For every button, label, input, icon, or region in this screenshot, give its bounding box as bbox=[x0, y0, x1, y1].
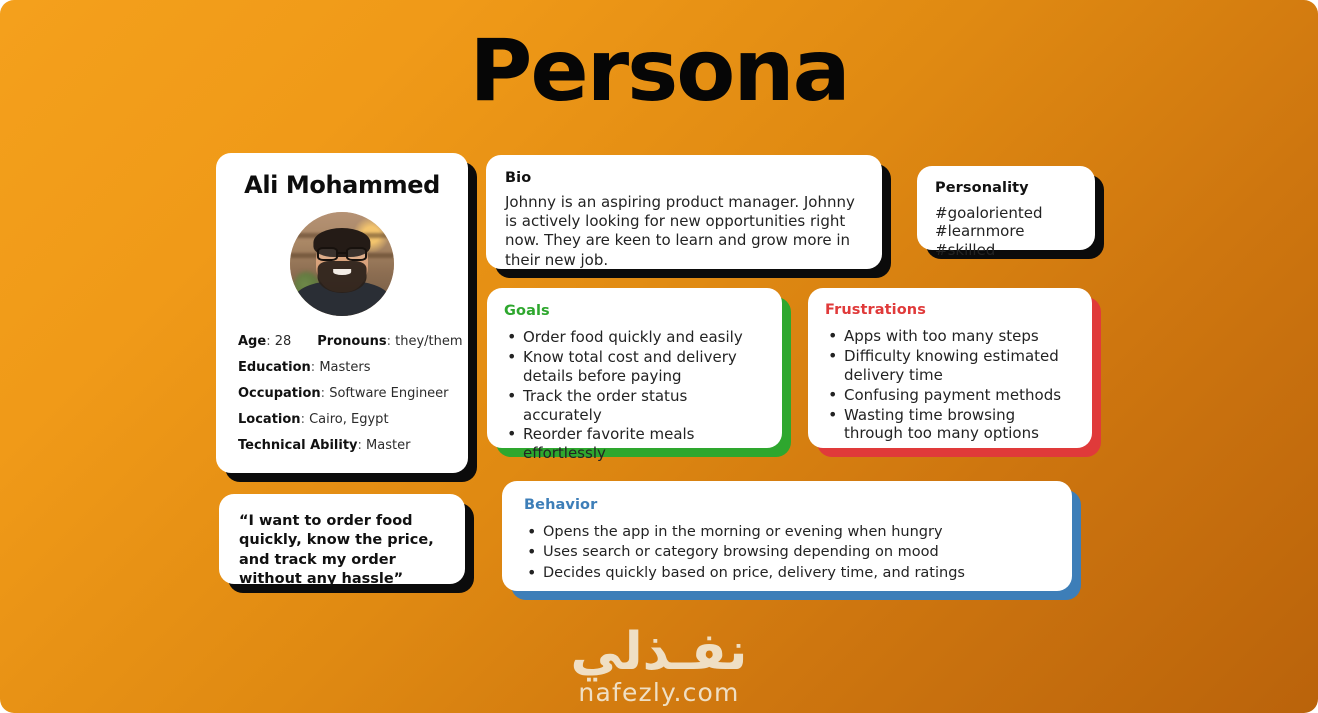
page-title: Persona bbox=[0, 26, 1318, 116]
field-separator: : bbox=[358, 438, 362, 453]
field-label: Pronouns bbox=[317, 334, 386, 349]
field-label: Age bbox=[238, 334, 266, 349]
avatar-glasses-right bbox=[346, 247, 367, 261]
profile-field-pronouns: Pronouns: they/them bbox=[317, 334, 462, 349]
field-label: Education bbox=[238, 360, 311, 375]
list-item: Opens the app in the morning or evening … bbox=[524, 523, 1050, 541]
avatar-glasses-bridge bbox=[338, 252, 345, 254]
goals-card: Goals Order food quickly and easily Know… bbox=[487, 288, 782, 448]
list-item: Wasting time browsing through too many o… bbox=[825, 406, 1075, 444]
watermark: نفـذلي nafezly.com bbox=[0, 626, 1318, 705]
avatar bbox=[290, 212, 394, 316]
profile-field-education: Education: Masters bbox=[238, 360, 446, 375]
bio-text: Johnny is an aspiring product manager. J… bbox=[505, 193, 863, 270]
profile-field-occupation: Occupation: Software Engineer bbox=[238, 386, 446, 401]
frustrations-heading: Frustrations bbox=[825, 302, 1075, 318]
avatar-beard bbox=[318, 261, 367, 293]
personality-card: Personality #goaloriented #learnmore #sk… bbox=[917, 166, 1095, 250]
field-value: Cairo, Egypt bbox=[309, 412, 388, 427]
behavior-list: Opens the app in the morning or evening … bbox=[524, 523, 1050, 582]
goals-heading: Goals bbox=[504, 303, 765, 319]
watermark-arabic: نفـذلي bbox=[0, 626, 1318, 678]
profile-field-location: Location: Cairo, Egypt bbox=[238, 412, 446, 427]
field-label: Location bbox=[238, 412, 301, 427]
bio-heading: Bio bbox=[505, 170, 863, 186]
profile-field-age: Age: 28 bbox=[238, 334, 291, 349]
field-label: Technical Ability bbox=[238, 438, 358, 453]
field-value: Master bbox=[366, 438, 410, 453]
watermark-latin: nafezly.com bbox=[0, 680, 1318, 705]
list-item: Difficulty knowing estimated delivery ti… bbox=[825, 347, 1075, 385]
field-separator: : bbox=[387, 334, 391, 349]
personality-tags: #goaloriented #learnmore #skilled bbox=[935, 204, 1077, 259]
field-value: 28 bbox=[275, 334, 292, 349]
field-value: they/them bbox=[395, 334, 462, 349]
list-item: Order food quickly and easily bbox=[504, 328, 765, 347]
list-item: Track the order status accurately bbox=[504, 387, 765, 425]
profile-fields: Age: 28 Pronouns: they/them Education: M… bbox=[238, 334, 446, 453]
list-item: Decides quickly based on price, delivery… bbox=[524, 564, 1050, 582]
avatar-glasses-left bbox=[317, 247, 338, 261]
list-item: Apps with too many steps bbox=[825, 327, 1075, 346]
field-label: Occupation bbox=[238, 386, 321, 401]
persona-poster: Persona Ali Mohammed Age: 28 bbox=[0, 0, 1318, 713]
profile-field-technical-ability: Technical Ability: Master bbox=[238, 438, 446, 453]
list-item: Confusing payment methods bbox=[825, 386, 1075, 405]
profile-row-age: Age: 28 Pronouns: they/them bbox=[238, 334, 446, 360]
list-item: Know total cost and delivery details bef… bbox=[504, 348, 765, 386]
field-separator: : bbox=[311, 360, 315, 375]
profile-name: Ali Mohammed bbox=[238, 171, 446, 199]
goals-list: Order food quickly and easily Know total… bbox=[504, 328, 765, 463]
bio-card: Bio Johnny is an aspiring product manage… bbox=[486, 155, 882, 269]
field-separator: : bbox=[321, 386, 325, 401]
behavior-heading: Behavior bbox=[524, 497, 1050, 513]
frustrations-list: Apps with too many steps Difficulty know… bbox=[825, 327, 1075, 443]
personality-heading: Personality bbox=[935, 180, 1077, 196]
list-item: Reorder favorite meals effortlessly bbox=[504, 425, 765, 463]
frustrations-card: Frustrations Apps with too many steps Di… bbox=[808, 288, 1092, 448]
field-separator: : bbox=[266, 334, 270, 349]
list-item: Uses search or category browsing dependi… bbox=[524, 543, 1050, 561]
field-value: Masters bbox=[319, 360, 370, 375]
behavior-card: Behavior Opens the app in the morning or… bbox=[502, 481, 1072, 591]
quote-card: “I want to order food quickly, know the … bbox=[219, 494, 465, 584]
quote-text: “I want to order food quickly, know the … bbox=[239, 512, 445, 589]
field-value: Software Engineer bbox=[329, 386, 448, 401]
profile-card: Ali Mohammed Age: 28 Pronouns: they/th bbox=[216, 153, 468, 473]
field-separator: : bbox=[301, 412, 305, 427]
